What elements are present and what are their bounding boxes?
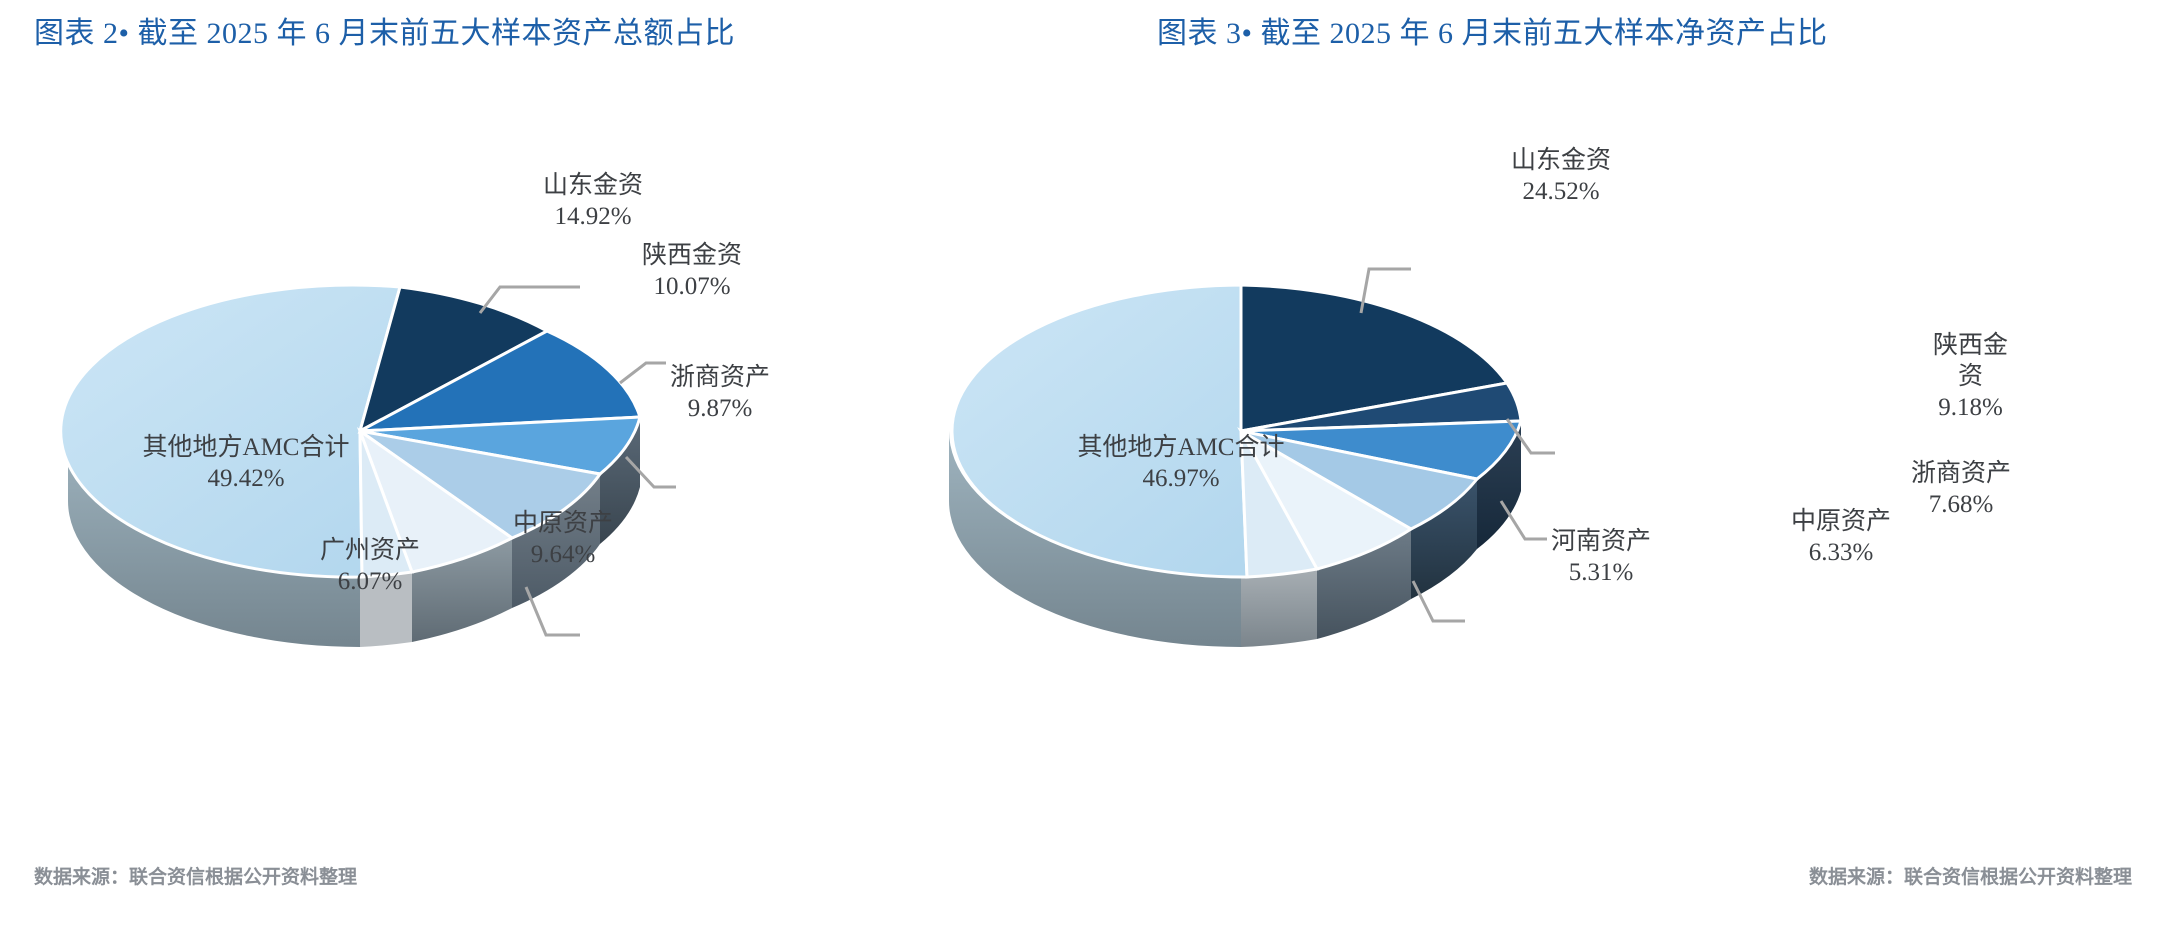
pie-label-guangzhou: 广州资产 6.07% [250, 535, 490, 597]
figure-pair-page: 图表 2• 截至 2025 年 6 月末前五大样本资产总额占比 [0, 0, 2162, 926]
pie-label-other-amc: 其他地方AMC合计 46.97% [1021, 432, 1341, 494]
pie-label-shandong: 山东金资 14.92% [488, 170, 698, 232]
pie-label-henan: 河南资产 5.31% [1481, 526, 1721, 588]
pie-label-shaanxi: 陕西金 资 9.18% [1903, 330, 2038, 423]
pie-label-shandong: 山东金资 24.52% [1456, 145, 1666, 207]
source-note-figure-3: 数据来源：联合资信根据公开资料整理 [1809, 862, 2132, 889]
pie-label-zhongyuan: 中原资产 6.33% [1721, 506, 1961, 568]
page-title-figure-2: 图表 2• 截至 2025 年 6 月末前五大样本资产总额占比 [34, 8, 735, 52]
page-title-figure-3: 图表 3• 截至 2025 年 6 月末前五大样本净资产占比 [1157, 8, 1828, 52]
figure-panel-3: 图表 3• 截至 2025 年 6 月末前五大样本净资产占比 [1081, 0, 2162, 926]
source-note-figure-2: 数据来源：联合资信根据公开资料整理 [34, 862, 357, 889]
pie-label-zheshang: 浙商资产 9.87% [620, 362, 820, 424]
pie-label-other-amc: 其他地方AMC合计 49.42% [86, 432, 406, 494]
pie-label-shaanxi: 陕西金资 10.07% [592, 240, 792, 302]
figure-panel-2: 图表 2• 截至 2025 年 6 月末前五大样本资产总额占比 [0, 0, 1081, 926]
pie-depth-henan [1241, 569, 1317, 647]
